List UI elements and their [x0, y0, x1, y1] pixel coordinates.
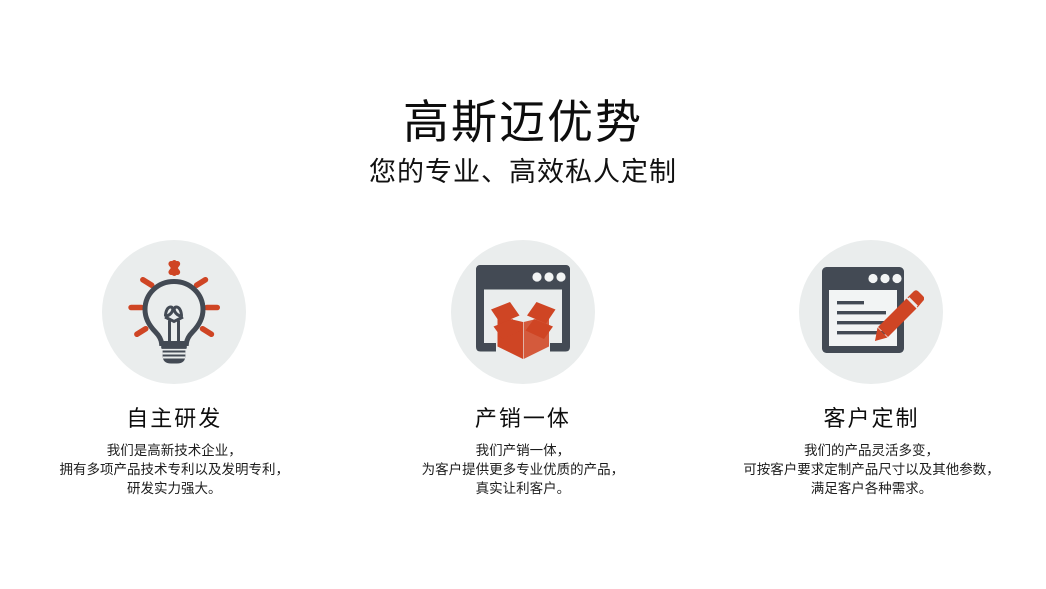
- feature-heading: 自主研发: [126, 406, 222, 432]
- feature-body-line: 我们产销一体，: [422, 441, 625, 460]
- browser-pencil-icon: [818, 265, 924, 359]
- slide-header: 高斯迈优势 您的专业、高效私人定制: [0, 96, 1046, 190]
- icon-circle-customization: [799, 240, 943, 384]
- slide-root: 高斯迈优势 您的专业、高效私人定制: [0, 0, 1046, 589]
- feature-body-line: 可按客户要求定制产品尺寸以及其他参数，: [743, 460, 1000, 479]
- feature-body: 我们产销一体， 为客户提供更多专业优质的产品， 真实让利客户。: [422, 441, 625, 498]
- feature-columns: 自主研发 我们是高新技术企业， 拥有多项产品技术专利以及发明专利， 研发实力强大…: [0, 240, 1046, 498]
- feature-column-customization: 客户定制 我们的产品灵活多变， 可按客户要求定制产品尺寸以及其他参数， 满足客户…: [697, 240, 1046, 498]
- feature-body-line: 为客户提供更多专业优质的产品，: [422, 460, 625, 479]
- feature-heading: 产销一体: [475, 406, 571, 432]
- icon-circle-research: [102, 240, 246, 384]
- feature-body-line: 我们是高新技术企业，: [60, 441, 290, 460]
- icon-circle-production: [451, 240, 595, 384]
- feature-body-line: 满足客户各种需求。: [743, 479, 1000, 498]
- feature-body: 我们是高新技术企业， 拥有多项产品技术专利以及发明专利， 研发实力强大。: [60, 441, 290, 498]
- feature-column-production: 产销一体 我们产销一体， 为客户提供更多专业优质的产品， 真实让利客户。: [349, 240, 698, 498]
- feature-column-research: 自主研发 我们是高新技术企业， 拥有多项产品技术专利以及发明专利， 研发实力强大…: [0, 240, 349, 498]
- browser-open-box-icon: [471, 264, 575, 360]
- feature-body-line: 真实让利客户。: [422, 479, 625, 498]
- feature-heading: 客户定制: [823, 406, 919, 432]
- feature-body-line: 我们的产品灵活多变，: [743, 441, 1000, 460]
- feature-body-line: 研发实力强大。: [60, 479, 290, 498]
- page-subtitle: 您的专业、高效私人定制: [0, 154, 1046, 190]
- lightbulb-icon: [124, 260, 224, 364]
- feature-body: 我们的产品灵活多变， 可按客户要求定制产品尺寸以及其他参数， 满足客户各种需求。: [743, 441, 1000, 498]
- page-title: 高斯迈优势: [0, 96, 1046, 150]
- feature-body-line: 拥有多项产品技术专利以及发明专利，: [60, 460, 290, 479]
